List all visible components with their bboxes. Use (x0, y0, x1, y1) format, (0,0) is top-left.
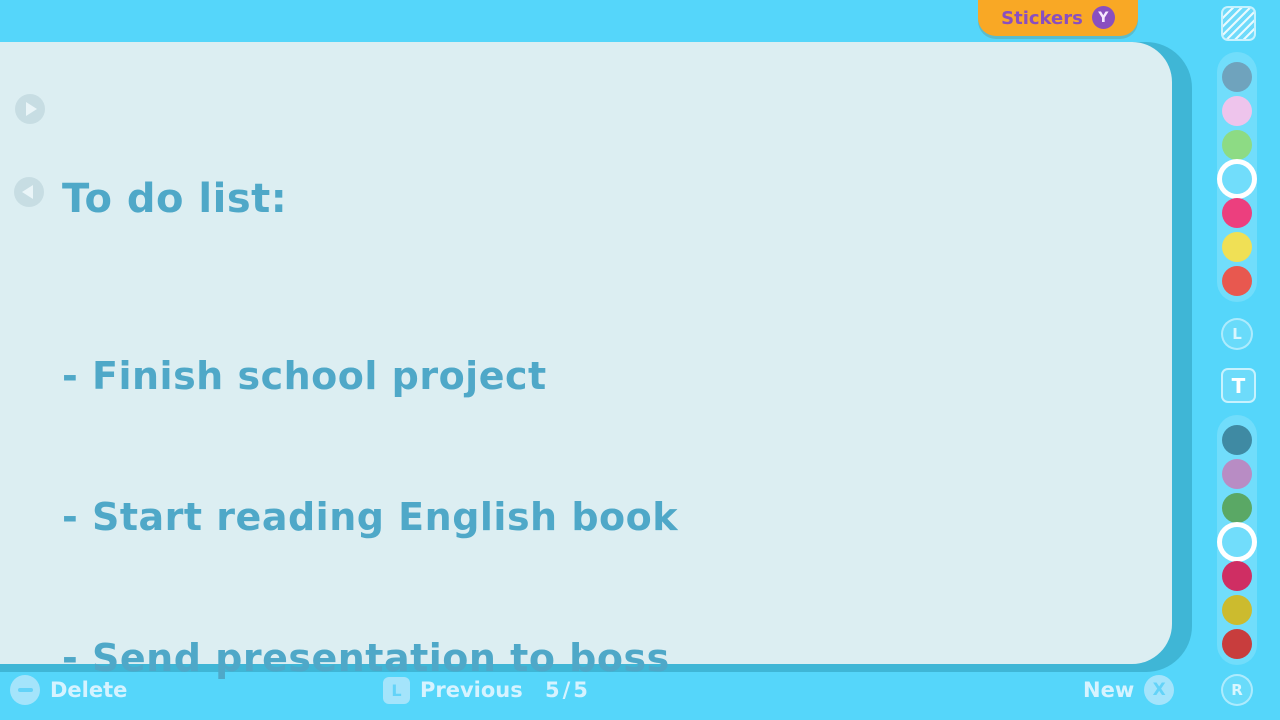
paper-color-swatch-3[interactable] (1222, 164, 1252, 194)
paper-color-swatch-4[interactable] (1222, 198, 1252, 228)
y-button-badge: Y (1092, 6, 1115, 29)
delete-button[interactable]: Delete (10, 674, 127, 706)
ink-color-palette[interactable] (1217, 415, 1257, 665)
triangle-right-glyph (26, 102, 37, 116)
page-indicator: 5 / 5 (545, 674, 591, 706)
previous-button-label: Previous (420, 678, 523, 702)
triangle-left-glyph (22, 185, 33, 199)
paper-color-swatch-1[interactable] (1222, 96, 1252, 126)
ink-color-swatch-2[interactable] (1222, 493, 1252, 523)
ink-color-swatch-1[interactable] (1222, 459, 1252, 489)
note-line-2: - Start reading English book (62, 494, 678, 541)
ink-color-swatch-4[interactable] (1222, 561, 1252, 591)
paper-color-palette[interactable] (1217, 52, 1257, 302)
previous-button[interactable]: L Previous (383, 674, 523, 706)
x-button-badge: X (1144, 675, 1174, 705)
triangle-left-icon[interactable] (14, 177, 44, 207)
hatch-pattern (1223, 8, 1254, 39)
paper-color-swatch-2[interactable] (1222, 130, 1252, 160)
shoulder-l-icon[interactable]: L (1221, 318, 1253, 350)
ink-color-swatch-6[interactable] (1222, 629, 1252, 659)
triangle-right-icon[interactable] (15, 94, 45, 124)
ink-color-swatch-0[interactable] (1222, 425, 1252, 455)
note-title: To do list: (62, 176, 678, 223)
page-current: 5 (545, 678, 563, 702)
text-tool-label: T (1232, 376, 1246, 396)
paper-color-swatch-0[interactable] (1222, 62, 1252, 92)
note-line-1: - Finish school project (62, 353, 678, 400)
page-total: 5 (573, 678, 591, 702)
hatched-square-icon[interactable] (1221, 6, 1256, 41)
shoulder-l-label: L (1232, 325, 1242, 343)
delete-button-label: Delete (50, 678, 127, 702)
bottom-action-bar: Delete L Previous 5 / 5 New X (0, 664, 1280, 720)
note-app-screen: To do list: - Finish school project - St… (0, 0, 1280, 720)
minus-circle-icon (10, 675, 40, 705)
new-button-label: New (1083, 678, 1134, 702)
tool-sidebar: L T R (1200, 0, 1280, 720)
page-separator: / (563, 678, 574, 702)
stickers-button[interactable]: Stickers Y (978, 0, 1138, 36)
ink-color-swatch-3[interactable] (1222, 527, 1252, 557)
stickers-button-label: Stickers (1001, 8, 1083, 29)
minus-glyph (18, 688, 33, 692)
note-content[interactable]: To do list: - Finish school project - St… (62, 82, 678, 720)
ink-color-swatch-5[interactable] (1222, 595, 1252, 625)
paper-color-swatch-5[interactable] (1222, 232, 1252, 262)
l-button-badge: L (383, 677, 410, 704)
paper-color-swatch-6[interactable] (1222, 266, 1252, 296)
text-T-icon[interactable]: T (1221, 368, 1256, 403)
new-button[interactable]: New X (1083, 674, 1174, 706)
